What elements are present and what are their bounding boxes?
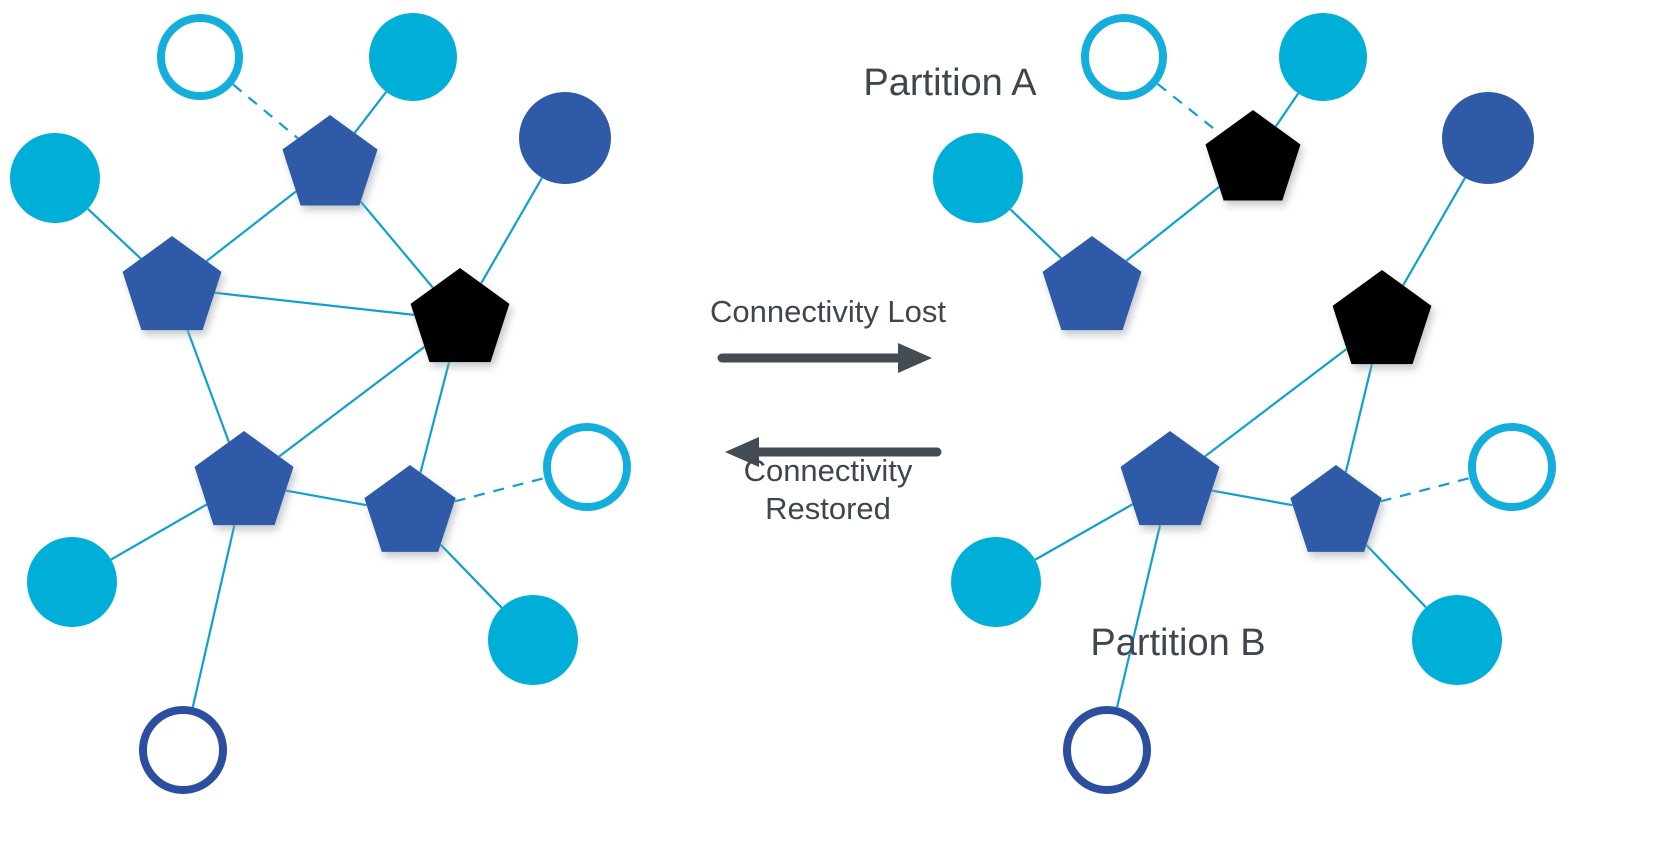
node-circle[interactable] — [519, 92, 611, 184]
node-circle[interactable] — [933, 133, 1023, 223]
node-circle-hollow[interactable] — [547, 427, 627, 507]
network-edge — [279, 347, 424, 457]
node-pentagon[interactable] — [1043, 236, 1142, 330]
network-edge — [361, 202, 433, 288]
connectivity-lost-arrow-head — [898, 343, 932, 373]
node-circle[interactable] — [10, 133, 100, 223]
node-pentagon[interactable] — [364, 465, 455, 552]
node-circle[interactable] — [951, 537, 1041, 627]
connectivity-restored-label-line1: Connectivity — [744, 453, 913, 488]
network-edge-dashed — [455, 478, 545, 501]
node-pentagon[interactable] — [1290, 465, 1381, 552]
network-edge-dashed — [233, 84, 298, 138]
diagram-canvas: Connectivity Lost Connectivity Restored … — [0, 0, 1656, 856]
transition-arrows — [722, 343, 937, 467]
network-edge — [1212, 491, 1293, 506]
partition-b-label: Partition B — [1090, 622, 1265, 664]
network-edge — [1346, 364, 1372, 472]
node-circle[interactable] — [1412, 595, 1502, 685]
node-circle-hollow[interactable] — [1472, 427, 1552, 507]
node-pentagon[interactable] — [1121, 431, 1220, 525]
node-circle[interactable] — [27, 537, 117, 627]
network-edge — [1126, 187, 1219, 261]
network-partition-diagram: Connectivity Lost Connectivity Restored … — [0, 0, 1656, 856]
node-circle-hollow[interactable] — [1067, 710, 1147, 790]
node-circle[interactable] — [1442, 92, 1534, 184]
network-edge — [481, 178, 542, 284]
network-edge — [1117, 525, 1160, 707]
node-pentagon[interactable] — [195, 431, 294, 525]
network-edge — [207, 191, 296, 261]
node-circle[interactable] — [1279, 13, 1367, 101]
left-graph-nodes — [10, 13, 627, 790]
node-circle-hollow[interactable] — [143, 710, 223, 790]
node-pentagon-leader[interactable] — [1333, 270, 1432, 364]
network-edge — [193, 525, 235, 707]
network-edge — [420, 362, 449, 473]
network-edge — [111, 504, 207, 559]
node-pentagon-leader[interactable] — [1205, 110, 1300, 200]
node-pentagon-leader[interactable] — [411, 268, 510, 362]
node-circle-hollow[interactable] — [161, 18, 239, 96]
connectivity-restored-label-line2: Restored — [765, 491, 891, 526]
network-edge-dashed — [1381, 478, 1470, 501]
right-graph-nodes — [933, 13, 1552, 790]
network-edge-dashed — [1158, 84, 1221, 134]
network-edge — [1205, 349, 1347, 456]
connectivity-lost-label: Connectivity Lost — [710, 294, 946, 329]
node-circle[interactable] — [369, 13, 457, 101]
node-pentagon[interactable] — [123, 236, 222, 330]
network-edge — [1366, 545, 1426, 607]
network-edge — [88, 209, 141, 259]
node-circle[interactable] — [488, 595, 578, 685]
network-edge — [188, 330, 229, 442]
network-edge — [1276, 93, 1299, 126]
network-edge — [286, 491, 367, 506]
network-edge — [1035, 504, 1133, 560]
partition-a-label: Partition A — [863, 62, 1037, 104]
network-edge — [1403, 178, 1465, 285]
network-edge — [1010, 209, 1061, 258]
node-circle-hollow[interactable] — [1085, 18, 1163, 96]
node-pentagon[interactable] — [282, 115, 377, 205]
network-edge — [441, 545, 502, 608]
network-edge — [215, 293, 414, 315]
network-edge — [355, 92, 387, 133]
